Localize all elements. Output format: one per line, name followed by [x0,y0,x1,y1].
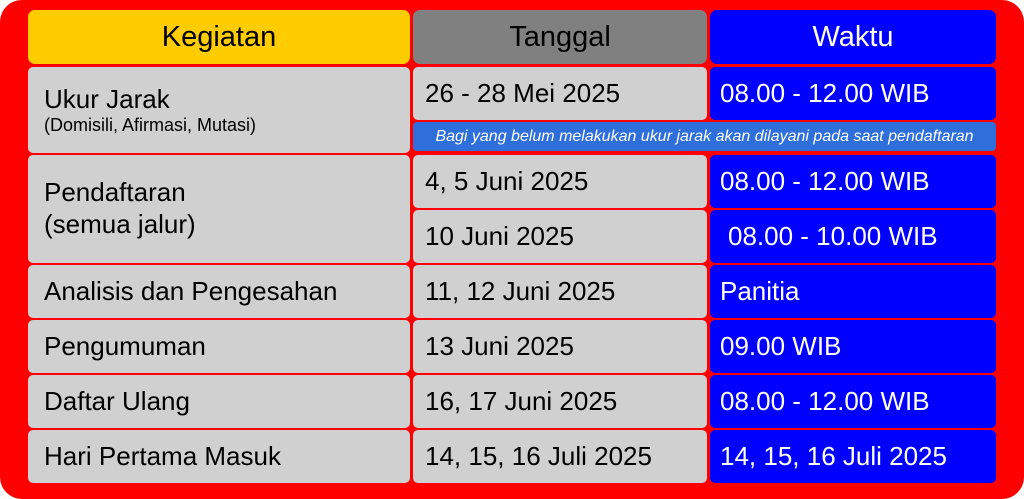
table-header-date: Tanggal [413,10,707,64]
date-cell: 13 Juni 2025 [413,320,707,373]
schedule-poster: Kegiatan Tanggal Waktu Ukur Jarak (Domis… [0,0,1024,499]
date-cell: 11, 12 Juni 2025 [413,265,707,318]
time-cell: 08.00 - 12.00 WIB [710,155,996,208]
table-row: Pengumuman [28,320,410,373]
note-banner: Bagi yang belum melakukan ukur jarak aka… [413,122,996,151]
time-cell: 09.00 WIB [710,320,996,373]
time-cell: 08.00 - 12.00 WIB [710,375,996,428]
date-cell: 26 - 28 Mei 2025 [413,67,707,120]
table-row: Analisis dan Pengesahan [28,265,410,318]
activity-subtitle: (Domisili, Afirmasi, Mutasi) [44,115,410,136]
date-cell: 16, 17 Juni 2025 [413,375,707,428]
table-row: Pendaftaran (semua jalur) [28,155,410,263]
date-cell: 10 Juni 2025 [413,210,707,263]
table-row: Daftar Ulang [28,375,410,428]
activity-title: Ukur Jarak [44,85,410,114]
time-cell: 08.00 - 12.00 WIB [710,67,996,120]
activity-title-line2: (semua jalur) [44,209,410,241]
activity-title-line1: Pendaftaran [44,177,410,209]
date-cell: 4, 5 Juni 2025 [413,155,707,208]
table-row: Hari Pertama Masuk [28,430,410,483]
date-cell: 14, 15, 16 Juli 2025 [413,430,707,483]
table-header-time: Waktu [710,10,996,64]
time-cell: 14, 15, 16 Juli 2025 [710,430,996,483]
time-cell: 08.00 - 10.00 WIB [710,210,996,263]
time-cell: Panitia [710,265,996,318]
table-header-activity: Kegiatan [28,10,410,64]
table-row: Ukur Jarak (Domisili, Afirmasi, Mutasi) [28,67,410,153]
schedule-table: Kegiatan Tanggal Waktu Ukur Jarak (Domis… [28,10,996,489]
